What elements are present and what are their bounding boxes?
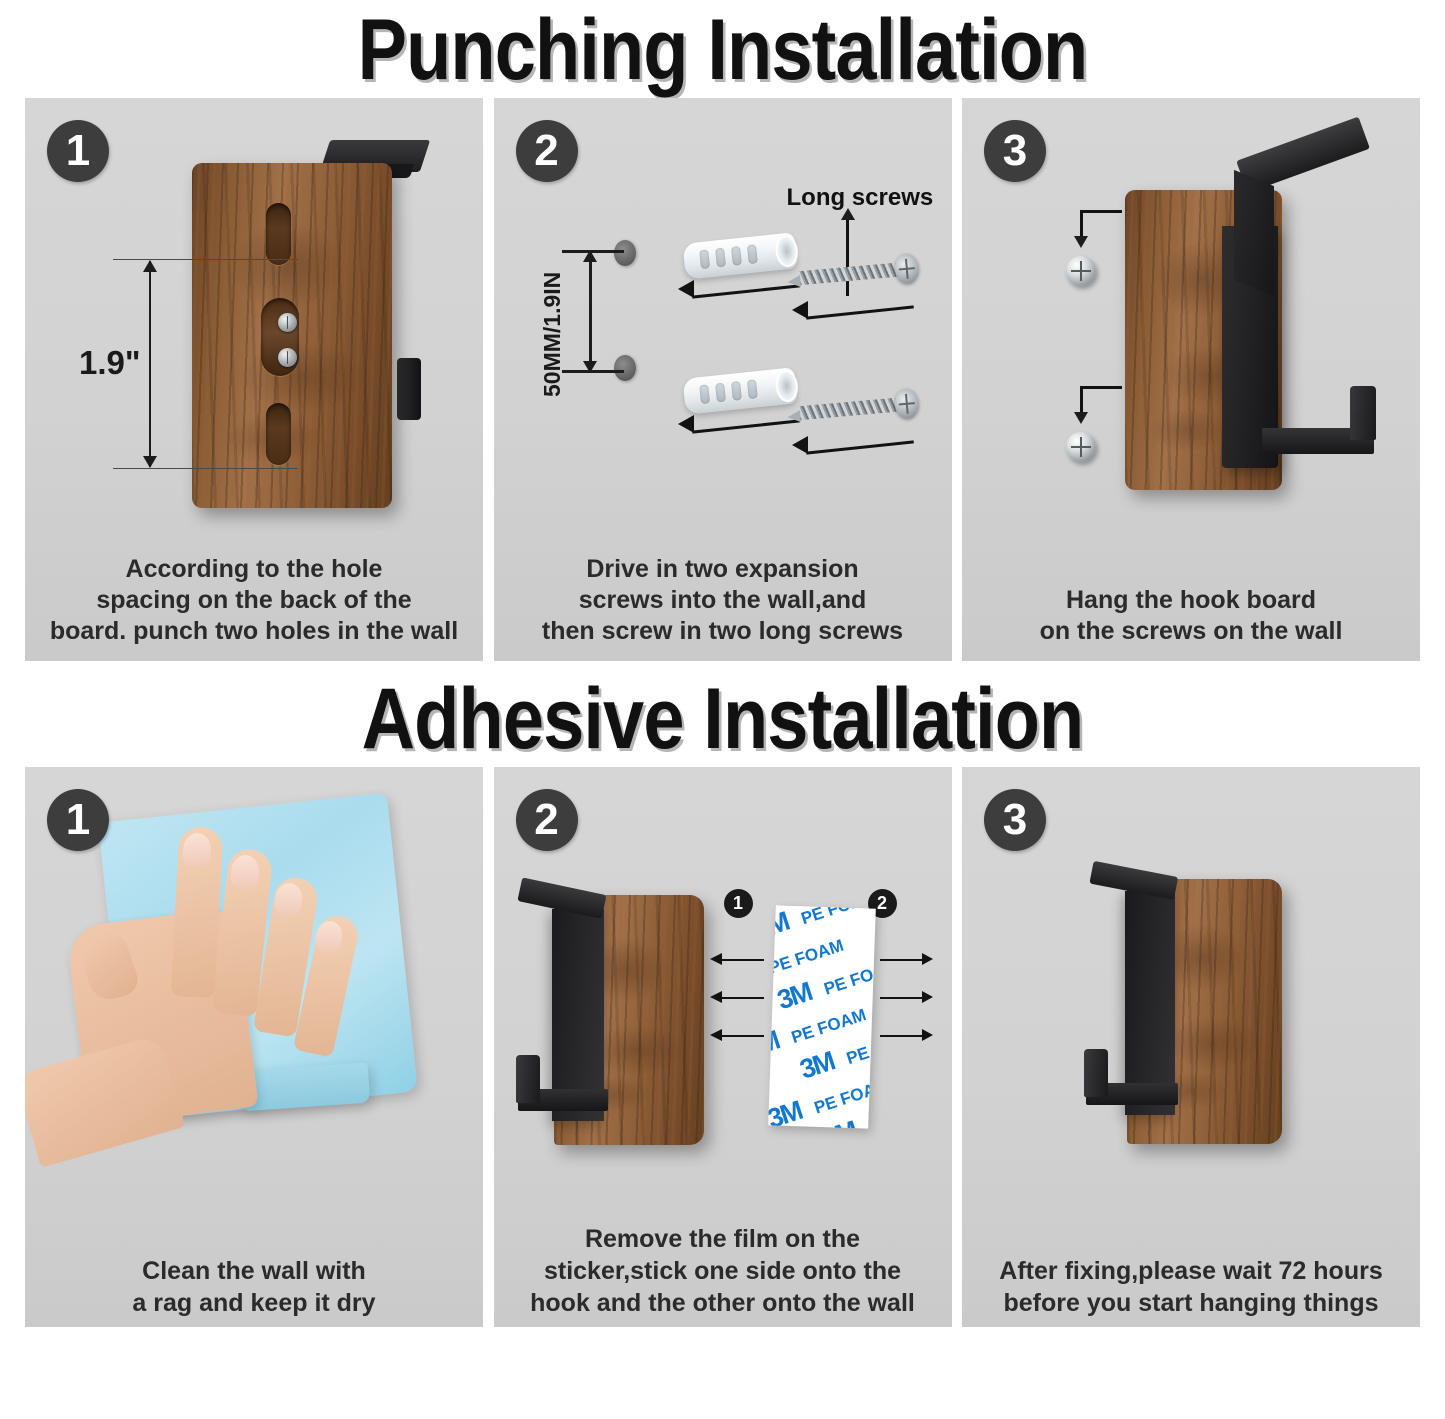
long-screws-annotation: Long screws — [787, 184, 934, 212]
dimension-label: 50MM/1.9IN — [539, 272, 566, 397]
step-caption: According to the hole spacing on the bac… — [25, 554, 483, 647]
wall-anchor-slot — [715, 248, 726, 268]
dimension-extension-line-bottom — [113, 468, 298, 469]
keyhole-slot-top — [266, 203, 291, 265]
step-caption: Clean the wall with a rag and keep it dr… — [25, 1255, 483, 1319]
page-title-adhesive: Adhesive Installation — [101, 661, 1344, 767]
hook-spine-icon — [1125, 891, 1175, 1115]
step-caption: After fixing,please wait 72 hours before… — [962, 1255, 1420, 1319]
step-badge: 2 — [516, 120, 578, 182]
tape-brand-text: 3M — [768, 1095, 805, 1129]
hook-lower-arm-tip-icon — [516, 1055, 540, 1103]
step-badge: 3 — [984, 120, 1046, 182]
long-screw-tip-icon — [787, 410, 801, 423]
dimension-arrow-down-icon — [143, 456, 157, 468]
screw-head-upper-icon — [278, 313, 297, 332]
step-badge: 1 — [47, 789, 109, 851]
step-panel-adhesive-2: 2 1 2 3M — [494, 767, 952, 1327]
tape-material-text: PE FOAM — [821, 956, 875, 999]
page-title-punching: Punching Installation — [101, 0, 1344, 98]
wall-anchor-slot — [699, 384, 710, 404]
screw-pointer-line-bottom — [1080, 386, 1122, 389]
tape-brand-text: 3M — [773, 976, 814, 1016]
screw-insert-arrow-top — [806, 305, 914, 319]
wall-anchor-slot — [730, 246, 741, 266]
wall-hole-top-icon — [614, 240, 636, 266]
wall-anchor-slot — [746, 379, 757, 399]
dimension-arrow-down-icon — [583, 361, 597, 373]
hook-side-nub-icon — [397, 358, 421, 420]
dimension-arrow-up-icon — [143, 260, 157, 272]
dimension-line — [149, 261, 151, 467]
wall-hole-bottom-icon — [614, 355, 636, 381]
dimension-label: 1.9" — [79, 344, 141, 382]
adhesive-steps-row: 1 Clean the wall with a rag and keep it … — [0, 767, 1445, 1327]
wall-mounted-screw-bottom — [1066, 432, 1096, 462]
tape-arrow-left-line — [722, 997, 764, 999]
wall-anchor-slot — [746, 244, 757, 264]
hook-lower-arm-tip-icon — [1350, 386, 1376, 440]
tape-arrow-right-line — [880, 959, 924, 961]
hand-wrist — [25, 1034, 185, 1168]
punching-steps-row: 1 1.9" According to t — [0, 98, 1445, 661]
tape-brand-text: 3M — [768, 906, 792, 946]
dimension-line — [589, 253, 592, 371]
long-screw-tip-icon — [787, 275, 801, 288]
tape-arrow-left-head-icon — [710, 991, 722, 1003]
tape-arrow-right-line — [880, 1035, 924, 1037]
step-caption: Drive in two expansion screws into the w… — [494, 554, 952, 647]
tape-brand-text: 3M — [796, 1046, 837, 1086]
long-screw-bottom — [797, 388, 919, 428]
anchor-insert-arrow-top — [692, 284, 800, 298]
wall-anchor-bottom — [682, 367, 797, 415]
dimension-extension-line-top — [113, 259, 298, 260]
adhesive-tape-pattern: 3M PE FOAM 3M PE FOAM 3M PE FOAM 3M PE F… — [768, 905, 876, 1128]
dimension-arrow-up-icon — [583, 250, 597, 262]
tape-arrow-right-head-icon — [922, 1029, 933, 1041]
tape-arrow-left-line — [722, 1035, 764, 1037]
tape-arrow-left-line — [722, 959, 764, 961]
screw-cross-icon — [1071, 446, 1091, 448]
wall-anchor-slot — [730, 381, 741, 401]
anchor-insert-arrow-bottom — [692, 419, 800, 433]
step-panel-punching-2: 2 Long screws 50MM/1.9IN — [494, 98, 952, 661]
long-screw-top — [797, 253, 919, 293]
step-caption: Remove the film on the sticker,stick one… — [494, 1223, 952, 1319]
tape-arrow-left-head-icon — [710, 953, 722, 965]
screw-insert-arrow-head-bottom-icon — [792, 436, 808, 454]
tape-arrow-left-head-icon — [710, 1029, 722, 1041]
step-badge: 3 — [984, 789, 1046, 851]
long-screw-shaft — [798, 262, 897, 284]
screw-insert-arrow-bottom — [806, 440, 914, 454]
step-panel-adhesive-3: 3 After fixing,please wait 72 hours befo… — [962, 767, 1420, 1327]
keyhole-slot-bottom — [266, 403, 291, 465]
wall-anchor-top — [682, 232, 797, 280]
hook-lower-arm-tip-icon — [1084, 1049, 1108, 1097]
long-screw-head-icon — [893, 253, 920, 285]
tape-arrow-right-head-icon — [922, 991, 933, 1003]
wall-anchor-slot — [699, 249, 710, 269]
step-badge: 2 — [516, 789, 578, 851]
screw-pointer-line-top — [1080, 210, 1122, 213]
step-badge: 1 — [47, 120, 109, 182]
tape-arrow-right-head-icon — [922, 953, 933, 965]
marker-one-badge: 1 — [724, 889, 753, 918]
long-screw-head-icon — [893, 388, 920, 420]
tape-arrow-right-line — [880, 997, 924, 999]
tape-brand-text: 3M — [768, 1025, 782, 1065]
anchor-insert-arrow-head-bottom-icon — [678, 415, 694, 433]
screw-head-lower-icon — [278, 348, 297, 367]
step-panel-adhesive-1: 1 Clean the wall with a rag and keep it … — [25, 767, 483, 1327]
wall-mounted-screw-top — [1066, 256, 1096, 286]
screw-pointer-head-top-icon — [1074, 236, 1088, 248]
step-caption: Hang the hook board on the screws on the… — [962, 585, 1420, 647]
adhesive-tape-3m: 3M PE FOAM 3M PE FOAM 3M PE FOAM 3M PE F… — [768, 905, 876, 1128]
step-panel-punching-3: 3 — [962, 98, 1420, 661]
cleaning-cloth-bottom-fold — [238, 1063, 370, 1112]
hand-nail — [182, 832, 212, 867]
anchor-insert-arrow-head-top-icon — [678, 280, 694, 298]
long-screws-arrow-head-icon — [841, 208, 855, 220]
hook-upper-arm-inner-icon — [1234, 170, 1274, 296]
screw-insert-arrow-head-top-icon — [792, 301, 808, 319]
long-screw-shaft — [798, 397, 897, 419]
screw-pointer-head-bottom-icon — [1074, 412, 1088, 424]
wall-anchor-slot — [715, 383, 726, 403]
step-panel-punching-1: 1 1.9" According to t — [25, 98, 483, 661]
screw-cross-icon — [1071, 270, 1091, 272]
